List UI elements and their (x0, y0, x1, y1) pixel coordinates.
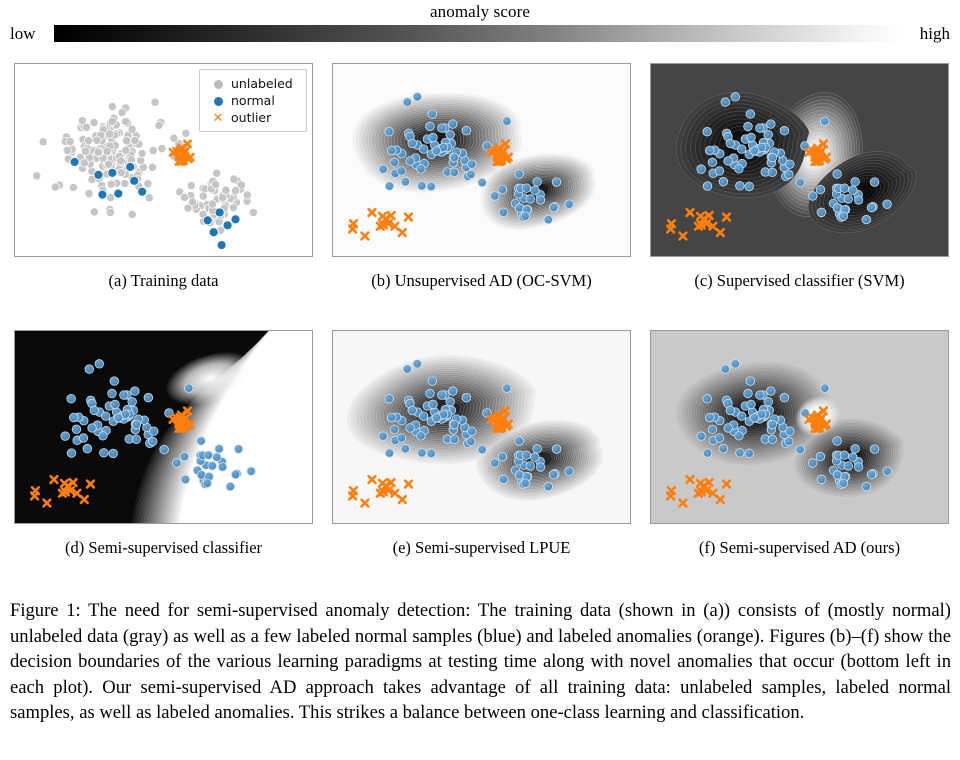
data-point (429, 133, 438, 142)
data-point (726, 139, 735, 148)
data-point (184, 384, 193, 393)
data-point (840, 451, 849, 460)
data-point (83, 444, 92, 453)
data-point (67, 394, 76, 403)
data-point (155, 121, 163, 129)
data-point (450, 153, 459, 162)
data-point (104, 160, 112, 168)
data-point (705, 413, 714, 422)
data-point (536, 463, 545, 472)
panel-c-plot (651, 64, 948, 256)
data-point (862, 482, 871, 491)
data-point (844, 195, 853, 204)
data-point (499, 208, 508, 217)
data-point (736, 449, 745, 458)
data-point (94, 170, 103, 179)
data-point (780, 126, 789, 135)
data-point (515, 437, 524, 446)
data-point (817, 475, 826, 484)
data-point (84, 136, 92, 144)
data-point (450, 435, 459, 444)
data-point (213, 169, 221, 177)
data-point (747, 400, 756, 409)
data-point (721, 365, 730, 374)
data-point (90, 118, 98, 126)
data-point (231, 187, 239, 195)
data-point (721, 98, 730, 107)
data-point (149, 427, 158, 436)
data-point (108, 117, 116, 125)
data-point (95, 360, 104, 369)
data-point (203, 479, 212, 488)
data-point (820, 384, 829, 393)
data-point (203, 216, 212, 225)
data-point (724, 157, 733, 166)
data-point (234, 445, 243, 454)
data-point (101, 412, 110, 421)
data-point (187, 181, 195, 189)
data-point (217, 241, 226, 250)
data-point (854, 463, 863, 472)
legend-item-unlabeled: unlabeled (207, 75, 299, 92)
data-point (128, 397, 137, 406)
data-point (750, 414, 759, 423)
data-point (93, 136, 101, 144)
data-point (51, 183, 59, 191)
data-point (780, 393, 789, 402)
data-point (39, 138, 47, 146)
data-point (549, 470, 558, 479)
data-point (552, 178, 561, 187)
data-point (390, 158, 399, 167)
data-point (72, 425, 81, 434)
data-point (735, 165, 744, 174)
data-point (438, 124, 447, 133)
data-point (705, 146, 714, 155)
data-point (417, 165, 426, 174)
data-point (413, 93, 422, 102)
data-point (756, 391, 765, 400)
data-point (735, 432, 744, 441)
data-point (839, 479, 848, 488)
data-point (120, 391, 129, 400)
data-point (490, 459, 499, 468)
legend-label-unlabeled: unlabeled (229, 76, 293, 91)
data-point (467, 427, 476, 436)
data-point (229, 203, 237, 211)
data-point (449, 120, 458, 129)
panel-b-plot (333, 64, 630, 256)
data-point (478, 445, 487, 454)
data-point (105, 130, 113, 138)
data-point (467, 160, 476, 169)
data-point (744, 122, 753, 131)
decision-boundary-d (15, 331, 312, 523)
panel-f-plot (651, 331, 948, 523)
data-point (385, 394, 394, 403)
data-point (428, 110, 437, 119)
data-point (397, 434, 406, 443)
outlier-marker-icon: ✕ (207, 108, 229, 127)
data-point (427, 449, 436, 458)
data-point (697, 432, 706, 441)
data-point (703, 394, 712, 403)
data-point (536, 196, 545, 205)
data-point (446, 397, 455, 406)
data-point (521, 212, 530, 221)
data-point (502, 384, 511, 393)
data-point (79, 434, 88, 443)
panel-caption-a: (a) Training data (14, 271, 313, 291)
data-point (397, 167, 406, 176)
data-point (85, 365, 94, 374)
data-point (446, 130, 455, 139)
data-point (854, 196, 863, 205)
data-point (833, 437, 842, 446)
data-point (138, 187, 147, 196)
colorbar-title: anomaly score (0, 2, 960, 22)
data-point (426, 389, 435, 398)
data-point (122, 137, 130, 145)
data-point (223, 221, 232, 230)
data-point (69, 413, 78, 422)
data-point (719, 177, 728, 186)
data-point (247, 467, 256, 476)
data-point (796, 445, 805, 454)
data-point (432, 414, 441, 423)
data-point (419, 145, 428, 154)
panel-f-semisupervised-ad-ours (650, 330, 949, 524)
data-point (33, 172, 41, 180)
data-point (249, 208, 257, 216)
data-point (870, 445, 879, 454)
data-point (114, 414, 123, 423)
data-point (816, 452, 825, 461)
data-point (449, 387, 458, 396)
data-point (768, 435, 777, 444)
data-point (82, 123, 90, 131)
data-point (731, 93, 740, 102)
legend-item-outlier: ✕ outlier (207, 109, 299, 126)
data-point (796, 178, 805, 187)
data-point (703, 449, 712, 458)
data-point (160, 445, 169, 454)
data-point (438, 391, 447, 400)
data-point (151, 98, 159, 106)
data-point (417, 432, 426, 441)
data-point (390, 425, 399, 434)
data-point (98, 190, 107, 199)
data-point (515, 170, 524, 179)
data-point (406, 157, 415, 166)
panel-caption-f: (f) Semi-supervised AD (ours) (650, 538, 949, 558)
decision-boundary-c (651, 64, 948, 256)
colorbar: anomaly score low high (0, 0, 960, 52)
data-point (833, 170, 842, 179)
panel-c-supervised-svm (650, 63, 949, 257)
panel-caption-b: (b) Unsupervised AD (OC-SVM) (332, 271, 631, 291)
data-point (180, 193, 188, 201)
data-point (851, 178, 860, 187)
data-point (426, 122, 435, 131)
data-point (450, 168, 459, 177)
data-point (80, 159, 88, 167)
data-point (230, 175, 238, 183)
data-point (499, 475, 508, 484)
data-point (149, 146, 157, 154)
data-point (385, 127, 394, 136)
data-point (808, 459, 817, 468)
data-point (406, 424, 415, 433)
legend-item-normal: normal (207, 92, 299, 109)
data-point (764, 397, 773, 406)
panel-d-plot (15, 331, 312, 523)
data-point (379, 165, 388, 174)
data-point (565, 200, 574, 209)
data-point (211, 181, 219, 189)
data-point (737, 145, 746, 154)
data-point (844, 462, 853, 471)
data-point (785, 427, 794, 436)
data-point (467, 437, 476, 446)
data-point (158, 144, 166, 152)
data-point (817, 208, 826, 217)
data-point (188, 198, 196, 206)
data-point (61, 432, 70, 441)
data-point (703, 127, 712, 136)
data-point (697, 165, 706, 174)
data-point (719, 444, 728, 453)
data-point (110, 377, 119, 386)
data-point (117, 168, 125, 176)
data-point (462, 393, 471, 402)
data-point (100, 449, 109, 458)
data-point (767, 387, 776, 396)
data-point (103, 147, 111, 155)
data-point (746, 377, 755, 386)
data-point (521, 479, 530, 488)
data-point (226, 482, 235, 491)
data-point (144, 180, 152, 188)
panel-e-semisupervised-lpue (332, 330, 631, 524)
legend-label-normal: normal (229, 93, 275, 108)
data-point (172, 459, 181, 468)
data-point (490, 192, 499, 201)
data-point (764, 130, 773, 139)
data-point (204, 451, 213, 460)
data-point (108, 389, 117, 398)
data-point (731, 360, 740, 369)
data-point (418, 182, 427, 191)
data-point (767, 120, 776, 129)
data-point (213, 453, 222, 462)
data-point (737, 412, 746, 421)
data-point (182, 129, 190, 137)
data-point (88, 424, 97, 433)
figure-caption: Figure 1: The need for semi-supervised a… (10, 598, 951, 726)
decision-boundary-f (651, 331, 948, 523)
data-point (131, 136, 139, 144)
data-point (785, 437, 794, 446)
data-point (128, 210, 136, 218)
data-point (401, 177, 410, 186)
data-point (726, 406, 735, 415)
data-point (118, 108, 126, 116)
data-point (526, 195, 535, 204)
data-point (703, 182, 712, 191)
data-point (552, 445, 561, 454)
data-point (94, 148, 102, 156)
data-point (243, 191, 251, 199)
data-point (197, 437, 206, 446)
data-point (867, 470, 876, 479)
data-point (81, 147, 89, 155)
data-point (839, 212, 848, 221)
data-point (724, 424, 733, 433)
colorbar-gradient (54, 25, 904, 42)
decision-boundary-e (333, 331, 630, 523)
data-point (66, 137, 74, 145)
data-point (69, 183, 77, 191)
data-point (849, 186, 858, 195)
data-point (750, 147, 759, 156)
panel-b-unsupervised-ocsvm (332, 63, 631, 257)
colorbar-high-label: high (920, 24, 950, 44)
data-point (379, 432, 388, 441)
data-point (99, 432, 108, 441)
data-point (385, 182, 394, 191)
data-point (107, 180, 115, 188)
data-point (432, 147, 441, 156)
data-point (218, 193, 226, 201)
data-point (522, 451, 531, 460)
data-point (109, 449, 118, 458)
data-point (199, 192, 207, 200)
data-point (70, 157, 79, 166)
data-point (231, 215, 240, 224)
data-point (785, 170, 794, 179)
data-point (708, 158, 717, 167)
data-point (170, 134, 178, 142)
data-point (145, 194, 153, 202)
data-point (215, 445, 224, 454)
data-point (498, 185, 507, 194)
data-point (768, 153, 777, 162)
data-point (108, 168, 117, 177)
data-point (90, 406, 99, 415)
data-point (708, 425, 717, 434)
data-point (67, 449, 76, 458)
data-point (747, 133, 756, 142)
data-point (851, 445, 860, 454)
data-point (121, 179, 129, 187)
data-point (149, 437, 158, 446)
data-point (862, 215, 871, 224)
data-point (122, 146, 130, 154)
data-point (385, 449, 394, 458)
data-point (63, 146, 71, 154)
data-point (418, 449, 427, 458)
panel-e-plot (333, 331, 630, 523)
data-point (462, 126, 471, 135)
data-point (715, 434, 724, 443)
decision-boundary-b (333, 64, 630, 256)
data-point (883, 200, 892, 209)
data-point (745, 449, 754, 458)
panel-d-semisupervised-classifier (14, 330, 313, 524)
data-point (408, 139, 417, 148)
data-point (209, 228, 218, 237)
data-point (429, 400, 438, 409)
data-point (849, 453, 858, 462)
data-point (531, 453, 540, 462)
data-point (736, 182, 745, 191)
data-point (401, 444, 410, 453)
data-point (208, 200, 216, 208)
data-point (502, 117, 511, 126)
data-point (231, 470, 240, 479)
data-point (148, 163, 156, 171)
panel-caption-c: (c) Supervised classifier (SVM) (650, 271, 949, 291)
data-point (450, 420, 459, 429)
data-point (840, 184, 849, 193)
legend: unlabeled normal ✕ outlier (199, 69, 307, 132)
data-point (544, 215, 553, 224)
data-point (816, 185, 825, 194)
panel-caption-d: (d) Semi-supervised classifier (14, 538, 313, 558)
data-point (715, 167, 724, 176)
data-point (126, 162, 135, 171)
data-point (408, 406, 417, 415)
data-point (218, 463, 227, 472)
data-point (867, 203, 876, 212)
data-point (526, 462, 535, 471)
data-point (128, 125, 136, 133)
data-point (533, 445, 542, 454)
data-point (387, 146, 396, 155)
data-point (132, 420, 141, 429)
data-point (768, 420, 777, 429)
data-point (208, 462, 217, 471)
data-point (111, 400, 120, 409)
data-point (467, 170, 476, 179)
data-point (498, 452, 507, 461)
data-point (180, 452, 189, 461)
data-point (138, 149, 146, 157)
data-point (122, 117, 130, 125)
data-point (85, 190, 93, 198)
data-point (478, 178, 487, 187)
data-point (870, 178, 879, 187)
data-point (108, 102, 116, 110)
data-point (181, 475, 190, 484)
data-point (565, 467, 574, 476)
data-point (533, 178, 542, 187)
data-point (413, 360, 422, 369)
data-point (883, 467, 892, 476)
data-point (403, 365, 412, 374)
data-point (132, 435, 141, 444)
legend-label-outlier: outlier (229, 110, 271, 125)
data-point (90, 208, 98, 216)
data-point (522, 184, 531, 193)
data-point (745, 182, 754, 191)
data-point (820, 117, 829, 126)
data-point (544, 482, 553, 491)
data-point (215, 208, 224, 217)
data-point (144, 393, 153, 402)
data-point (549, 203, 558, 212)
